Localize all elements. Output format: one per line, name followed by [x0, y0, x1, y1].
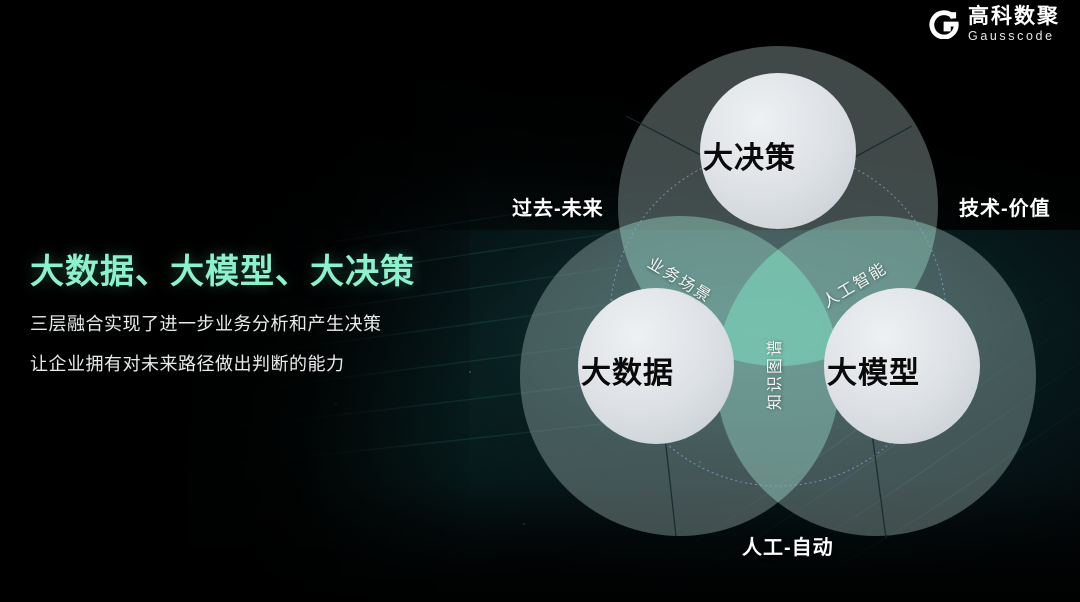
brand-name-cn: 高科数聚 — [968, 6, 1060, 27]
subtitle-line-2: 让企业拥有对未来路径做出判断的能力 — [30, 351, 470, 377]
venn-label-decision: 大决策 — [703, 133, 796, 177]
axis-caption-tech-value: 技术-价值 — [959, 192, 1051, 221]
venn-label-bigdata: 大数据 — [581, 348, 674, 392]
slide-canvas: 大决策 大数据 大模型 业务场景 人工智能 知识图谱 过去-未来 技术-价值 人… — [0, 0, 1080, 602]
overlap-label-knowledge-graph: 知识图谱 — [761, 338, 785, 410]
copy-block: 大数据、大模型、大决策 三层融合实现了进一步业务分析和产生决策 让企业拥有对未来… — [30, 252, 470, 377]
venn-label-bigmodel: 大模型 — [827, 348, 920, 392]
page-title: 大数据、大模型、大决策 — [30, 252, 470, 293]
brand-name-en: Gausscode — [968, 30, 1060, 43]
axis-caption-past-future: 过去-未来 — [512, 192, 604, 221]
subtitle-line-1: 三层融合实现了进一步业务分析和产生决策 — [30, 311, 470, 337]
axis-caption-manual-auto: 人工-自动 — [742, 531, 834, 560]
brand-logo: 高科数聚 Gausscode — [929, 6, 1060, 43]
venn-diagram: 大决策 大数据 大模型 业务场景 人工智能 知识图谱 — [498, 18, 1058, 563]
gausscode-ring-icon — [929, 9, 959, 39]
brand-wordmark: 高科数聚 Gausscode — [968, 6, 1060, 43]
